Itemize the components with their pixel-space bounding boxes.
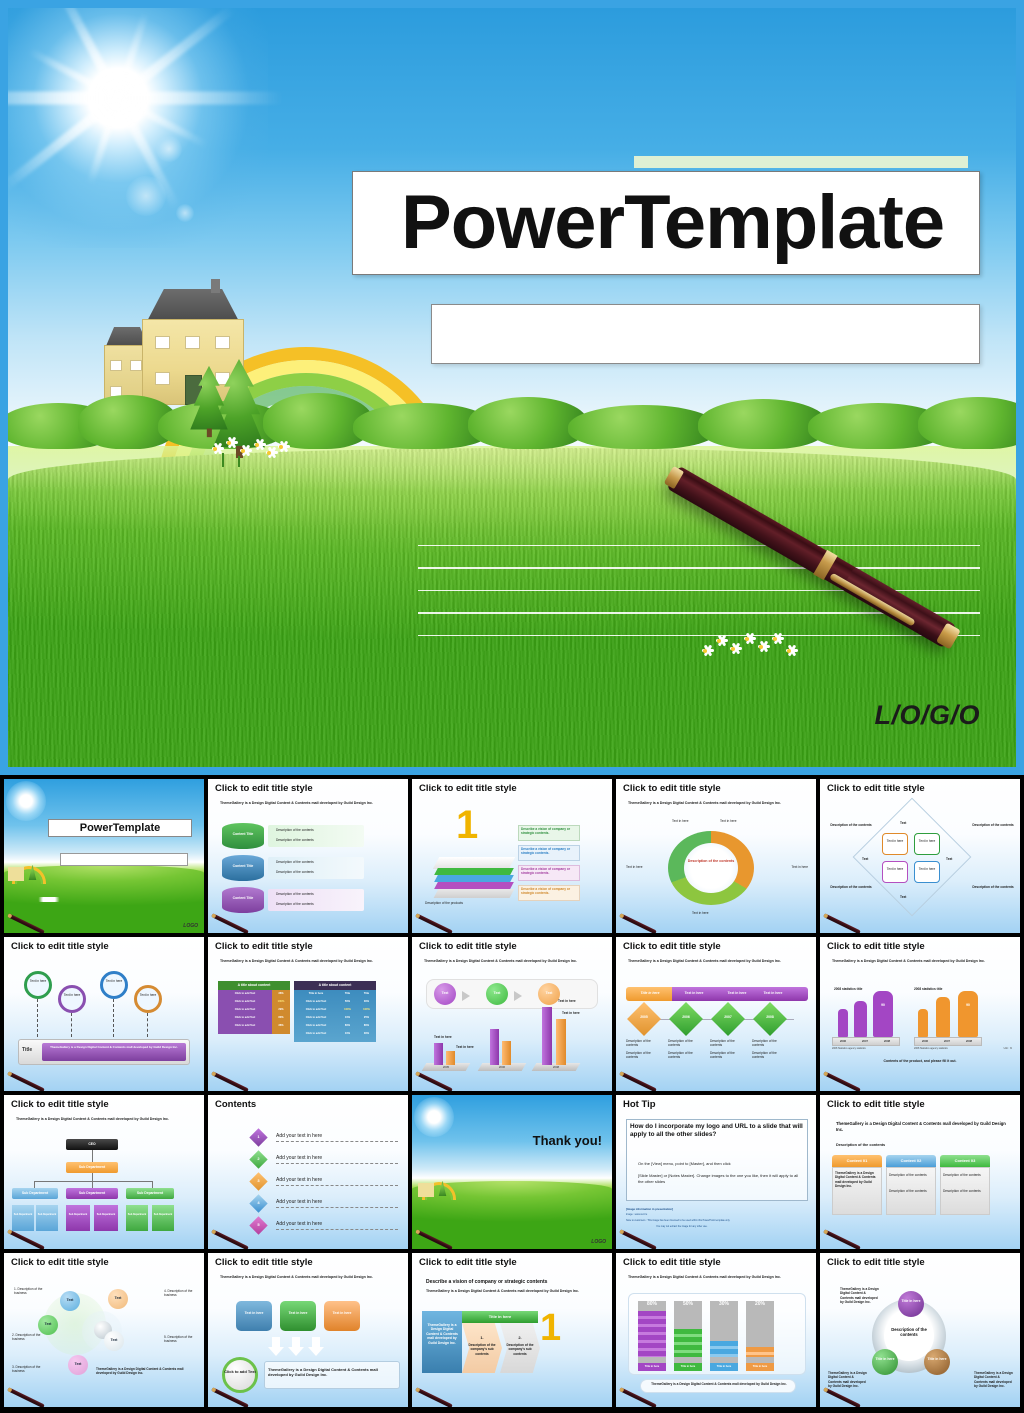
vision-text: Describe a vision of company or strategi… xyxy=(521,827,579,836)
item-text: Add your text in here xyxy=(276,1199,398,1208)
slide-title-text: Click to edit title style xyxy=(11,1258,199,1268)
slide-title-text: Click to edit title style xyxy=(827,942,1015,952)
slide-lead-text: ThemeGallery is a Design Digital Content… xyxy=(628,1275,806,1280)
desc-text: Description of the contents xyxy=(276,860,364,864)
box-label: Text in here xyxy=(882,839,908,843)
slide-subtitle-box xyxy=(60,853,188,866)
ribbon-label: Text in here xyxy=(720,991,754,995)
sun-icon xyxy=(6,781,46,821)
hero-slide-canvas: PowerTemplate L/O/G/O xyxy=(8,8,1016,767)
hot-tip-answer: [Slide Master] or [Notes Master]. Change… xyxy=(638,1173,804,1184)
slide-subtitle-box[interactable] xyxy=(431,304,980,364)
bar-category-label: Title in here xyxy=(674,1365,702,1368)
org-node-label: Sub Department xyxy=(66,1191,118,1195)
table-cell: 10% xyxy=(338,1016,357,1019)
desc-text: Description of the contents xyxy=(276,870,364,874)
fountain-pen-graphic xyxy=(210,1067,252,1089)
node-label: Text in here xyxy=(672,819,688,823)
bar-category-label: Title in here xyxy=(710,1365,738,1368)
desc-text: Description of the contents xyxy=(276,838,364,842)
table-cell: Click to add Text xyxy=(218,1024,272,1027)
slide-thumbnail-9[interactable]: Click to edit title style ThemeGallery i… xyxy=(616,937,816,1091)
slide-thumbnail-14[interactable]: Hot Tip How do I incorporate my logo and… xyxy=(616,1095,816,1249)
bullet-text: ThemeGallery is a Design Digital Content… xyxy=(836,1121,1010,1132)
slide-thumbnail-20[interactable]: Click to edit title style Description of… xyxy=(820,1253,1020,1407)
table-col-header: Title xyxy=(338,992,357,995)
slide-thumbnail-19[interactable]: Click to edit title style ThemeGallery i… xyxy=(616,1253,816,1407)
slide-title-text: Click to edit title style xyxy=(827,784,1015,794)
table-cell: Click to add Text xyxy=(294,1016,338,1019)
node-label: Title in here xyxy=(898,1299,924,1303)
slide-title-text: Click to edit title style xyxy=(623,1258,811,1268)
slide-lead-text: ThemeGallery is a Design Digital Content… xyxy=(220,959,398,964)
org-node-label: CEO xyxy=(66,1142,118,1146)
axis-tick: 2007 xyxy=(936,1039,958,1043)
bar-text: ThemeGallery is a Design Digital Content… xyxy=(44,1046,184,1050)
desc-text: Description of the contents xyxy=(276,902,364,906)
column-header: Content 03 xyxy=(940,1158,990,1163)
node-desc: 4. Description of the business xyxy=(164,1289,198,1298)
org-node-label: Sub Department xyxy=(36,1213,58,1216)
stat-value: 90 xyxy=(873,1003,893,1007)
node-desc: Description of the contents xyxy=(710,1051,746,1060)
table-cell: 100% xyxy=(357,1008,376,1011)
org-node-label: Sub Department xyxy=(126,1191,174,1195)
footnote-text: 2008 Statistics agency statistics xyxy=(914,1047,948,1050)
slide-lead-text: ThemeGallery is a Design Digital Content… xyxy=(220,801,398,806)
org-node-label: Sub Department xyxy=(94,1213,118,1216)
title-accent-bar xyxy=(634,156,968,168)
corner-label: Text xyxy=(946,857,952,861)
item-text: Add your text in here xyxy=(276,1155,398,1164)
sun-icon xyxy=(414,1097,454,1137)
donut-center-label: Description of the contents xyxy=(684,859,738,864)
content-title-label: Content Title xyxy=(222,864,264,868)
table-cell: Click to add Text xyxy=(218,1008,272,1011)
logo-placeholder: LOGO xyxy=(591,1239,606,1245)
arrow-right-icon xyxy=(462,991,470,1001)
footer-text: ThemeGallery is a Design Digital Content… xyxy=(646,1382,792,1386)
slide-thumbnail-11[interactable]: Click to edit title style ThemeGallery i… xyxy=(4,1095,204,1249)
stat-heading: 2008 statistics title xyxy=(914,987,942,991)
slide-title-text: Click to edit title style xyxy=(419,942,607,952)
ribbon-label: Text in here xyxy=(758,991,788,995)
step-text: Description of the company's sub content… xyxy=(466,1343,498,1356)
numeral-graphic: 1 xyxy=(540,1309,561,1347)
org-node-label: Sub Department xyxy=(66,1213,90,1216)
hot-tip-question: How do I incorporate my logo and URL to … xyxy=(630,1123,804,1139)
node-label: Title in here xyxy=(924,1357,950,1361)
node-label: Text in here xyxy=(692,911,708,915)
corner-label: Text xyxy=(900,895,906,899)
step-number: 2. xyxy=(506,1335,534,1340)
stat-value: 90 xyxy=(958,1003,978,1007)
slide-thumbnail-10[interactable]: Click to edit title style ThemeGallery i… xyxy=(820,937,1020,1091)
slide-title-text: Click to edit title style xyxy=(215,1258,403,1268)
numeral-graphic: 1 xyxy=(456,805,478,845)
item-text: Add your text in here xyxy=(276,1133,398,1142)
slide-title-text: PowerTemplate xyxy=(48,819,192,837)
axis-tick: 2006 xyxy=(914,1039,936,1043)
org-node-label: Sub Department xyxy=(126,1213,148,1216)
node-label: Text xyxy=(68,1362,88,1366)
column-body: Description of the contents xyxy=(943,1189,987,1193)
slide-lead-text: ThemeGallery is a Design Digital Content… xyxy=(832,959,1010,964)
node-label: Text in here xyxy=(626,865,642,869)
fountain-pen-graphic xyxy=(618,1225,660,1247)
node-label: Text xyxy=(104,1338,124,1342)
bar-category-label: Title in here xyxy=(638,1365,666,1368)
box-label: Text in here xyxy=(914,867,940,871)
node-desc: Description of the contents xyxy=(626,1051,662,1060)
fountain-pen-graphic xyxy=(618,1383,660,1405)
fountain-pen-graphic xyxy=(414,1225,456,1247)
series-label: Text in here xyxy=(562,1011,580,1015)
hot-tip-answer: On the [View] menu, point to [Master], a… xyxy=(638,1161,804,1167)
section-heading: Describe a vision of company or strategi… xyxy=(426,1279,602,1285)
logo-placeholder: LOGO xyxy=(183,923,198,929)
table-col-header: Title xyxy=(357,992,376,995)
corner-label: Text xyxy=(900,821,906,825)
footnote-text: Image : www.sxc.hu xyxy=(626,1213,647,1216)
fountain-pen-graphic xyxy=(6,1383,48,1405)
node-desc: 5. Description of the business xyxy=(164,1335,198,1344)
bar-category-label: Title in here xyxy=(746,1365,774,1368)
step-number: 1. xyxy=(468,1335,496,1340)
slide-title-text: Click to edit title style xyxy=(11,942,199,952)
slide-lead-text: ThemeGallery is a Design Digital Content… xyxy=(628,959,806,964)
axis-tick: 2008 xyxy=(534,1065,578,1069)
logo-placeholder: L/O/G/O xyxy=(874,700,980,731)
node-label: Text xyxy=(108,1296,128,1300)
column-body: Description of the contents xyxy=(889,1173,933,1177)
table-cell: Click to add Text xyxy=(218,992,272,995)
node-desc: Description of the contents xyxy=(668,1039,704,1048)
table-cell: Click to add Text xyxy=(218,1000,272,1003)
bullet-text: Description of the contents xyxy=(836,1143,885,1147)
process-label: Text xyxy=(538,991,560,995)
slide-thumbnail-8[interactable]: Click to edit title style ThemeGallery i… xyxy=(412,937,612,1091)
slide-thumbnail-1[interactable]: PowerTemplate LOGO xyxy=(4,779,204,933)
series-label: Text in here xyxy=(434,1035,452,1039)
node-label: Title in here xyxy=(872,1357,898,1361)
node-label: Text in here xyxy=(720,819,736,823)
node-desc: Description of the contents xyxy=(752,1039,788,1048)
slide-lead-text: ThemeGallery is a Design Digital Content… xyxy=(426,1289,602,1294)
series-label: Text in here xyxy=(558,999,576,1003)
year-label: 2006 xyxy=(674,1015,698,1019)
slide-thumbnail-3[interactable]: Click to edit title style 1 Description … xyxy=(412,779,612,933)
circle-label: Text in here xyxy=(58,993,86,997)
caption-text: ThemeGallery is a Design Digital Content… xyxy=(96,1367,198,1376)
item-number: 1 xyxy=(252,1134,265,1139)
fountain-pen-graphic xyxy=(822,909,864,931)
year-label: 2008 xyxy=(758,1015,782,1019)
bottom-note: Contents of the product, and please fill… xyxy=(820,1059,1020,1063)
fountain-pen-graphic xyxy=(210,1225,252,1247)
table-cell: 50% xyxy=(338,1000,357,1003)
item-number: 5 xyxy=(252,1222,265,1227)
content-title-label: Content Title xyxy=(222,832,264,836)
footnote-text: Description of the products xyxy=(424,901,464,905)
table-header: A title about content xyxy=(294,983,376,987)
slide-thumbnail-7[interactable]: Click to edit title style ThemeGallery i… xyxy=(208,937,408,1091)
footnote-text: You may not extract the image for any ot… xyxy=(656,1225,808,1228)
slide-title-text: Click to edit title style xyxy=(419,1258,607,1268)
item-text: Add your text in here xyxy=(276,1177,398,1186)
lens-flare-icon xyxy=(156,136,182,162)
footnote-text: Note to customers : This image has been … xyxy=(626,1219,808,1222)
ribbon-label: Text in here xyxy=(674,991,714,995)
slide-lead-text: ThemeGallery is a Design Digital Content… xyxy=(628,801,806,806)
vision-text: Describe a vision of company or strategi… xyxy=(521,887,579,896)
item-number: 2 xyxy=(252,1156,265,1161)
process-label: Text xyxy=(434,991,456,995)
ribbon-label: Title in here xyxy=(462,1314,538,1319)
slide-thumbnail-6[interactable]: Click to edit title style Text in here T… xyxy=(4,937,204,1091)
table-cell: 10% xyxy=(338,1032,357,1035)
table-col-header: Title in here xyxy=(294,992,338,995)
slide-title-text: Click to edit title style xyxy=(827,1100,1015,1110)
lens-flare-icon xyxy=(176,204,194,222)
stat-heading: 2008 statistics title xyxy=(834,987,862,991)
axis-tick: 2008 xyxy=(876,1039,898,1043)
bar-value-label: 80% xyxy=(638,1301,666,1307)
box-label: Text in here xyxy=(914,839,940,843)
item-number: 3 xyxy=(252,1178,265,1183)
circle-label: Text in here xyxy=(100,979,128,983)
table-cell: 60% xyxy=(338,1024,357,1027)
slide-lead-text: ThemeGallery is a Design Digital Content… xyxy=(16,1117,194,1122)
fountain-pen-graphic xyxy=(822,1383,864,1405)
slide-thumbnail-grid: PowerTemplate LOGO Click to edit title s… xyxy=(0,775,1024,1413)
table-cell: 100% xyxy=(338,1008,357,1011)
box-label: Text in here xyxy=(324,1311,360,1315)
box-label: Text in here xyxy=(882,867,908,871)
slide-lead-text: ThemeGallery is a Design Digital Content… xyxy=(424,959,602,964)
arrow-down-icon xyxy=(288,1347,304,1356)
slide-thumbnail-2[interactable]: Click to edit title style ThemeGallery i… xyxy=(208,779,408,933)
desc-text: Description of the contents xyxy=(276,828,364,832)
corner-label: Text xyxy=(862,857,868,861)
box-label: Text in here xyxy=(236,1311,272,1315)
slide-thumbnail-16[interactable]: Click to edit title style Text Text Text… xyxy=(4,1253,204,1407)
table-cell: 30% xyxy=(357,1000,376,1003)
item-number: 4 xyxy=(252,1200,265,1205)
fountain-pen-graphic xyxy=(414,1067,456,1089)
table-cell: Click to add Text xyxy=(294,1024,338,1027)
table-cell: 30% xyxy=(357,1032,376,1035)
slide-title-text: Click to edit title style xyxy=(827,1258,1015,1268)
content-title-label: Content Title xyxy=(222,896,264,900)
series-label: Text in here xyxy=(456,1045,474,1049)
fountain-pen-graphic xyxy=(414,909,456,931)
slide-title-text: Click to edit title style xyxy=(623,784,811,794)
slide-thumbnail-18[interactable]: Click to edit title style Describe a vis… xyxy=(412,1253,612,1407)
node-desc: Description of the contents xyxy=(752,1051,788,1060)
table-cell: 80% xyxy=(357,1024,376,1027)
slide-title-text: PowerTemplate xyxy=(353,185,944,261)
hero-slide: PowerTemplate L/O/G/O xyxy=(0,0,1024,775)
axis-tick: 2006 xyxy=(832,1039,854,1043)
column-header: Content 01 xyxy=(832,1158,882,1163)
node-desc: 2. Description of the business xyxy=(12,1333,46,1342)
side-label: Description of the contents xyxy=(830,885,872,889)
table-cell: Click to add Text xyxy=(294,1032,338,1035)
circle-label: Text in here xyxy=(24,979,52,983)
table-cell: Click to add Text xyxy=(294,1000,338,1003)
table-cell: Click to add Text xyxy=(218,1016,272,1019)
slide-thumbnail-17[interactable]: Click to edit title style ThemeGallery i… xyxy=(208,1253,408,1407)
year-label: 2007 xyxy=(716,1015,740,1019)
side-label: Description of the contents xyxy=(972,823,1014,827)
column-body: ThemeGallery is a Design Digital Content… xyxy=(835,1171,879,1188)
slide-title-text: Click to edit title style xyxy=(11,1100,199,1110)
fountain-pen-graphic xyxy=(618,909,660,931)
bar-value-label: 50% xyxy=(674,1301,702,1307)
fountain-pen-graphic xyxy=(210,1383,252,1405)
slide-thumbnail-12[interactable]: Contents 1 Add your text in here 2 Add y… xyxy=(208,1095,408,1249)
slide-title-box[interactable]: PowerTemplate xyxy=(352,171,980,275)
left-block-text: ThemeGallery is a Design Digital Content… xyxy=(424,1323,460,1345)
year-label: 2005 xyxy=(632,1015,656,1019)
bush-row xyxy=(8,379,1016,449)
bar-value-label: 20% xyxy=(746,1301,774,1307)
axis-tick: 2006 xyxy=(480,1065,524,1069)
table-cell: 29% xyxy=(272,1008,290,1011)
ribbon-label: Title in here xyxy=(626,991,674,995)
slide-title-text: Contents xyxy=(215,1100,403,1110)
fountain-pen-graphic xyxy=(6,1225,48,1247)
node-desc: Description of the contents xyxy=(626,1039,662,1048)
side-label: Description of the contents xyxy=(830,823,872,827)
arrow-down-icon xyxy=(268,1347,284,1356)
table-cell: 100% xyxy=(272,1000,290,1003)
table-cell: 80% xyxy=(272,1016,290,1019)
column-body: Description of the contents xyxy=(889,1189,933,1193)
node-desc: 1. Description of the business xyxy=(14,1287,48,1296)
table-cell: 25% xyxy=(357,1016,376,1019)
org-node-label: Sub Department xyxy=(12,1191,58,1195)
table-cell: Click to add Text xyxy=(294,1008,338,1011)
process-label: Text xyxy=(486,991,508,995)
slide-title-text: Click to edit title style xyxy=(623,942,811,952)
center-label: Description of the contents xyxy=(884,1327,934,1338)
vision-text: Describe a vision of company or strategi… xyxy=(521,867,579,876)
org-node-label: Sub Department xyxy=(152,1213,174,1216)
circle-label: Click to add Text xyxy=(224,1369,256,1374)
fountain-pen-graphic xyxy=(663,456,1003,671)
bar-value-label: 30% xyxy=(710,1301,738,1307)
slide-title-text: Click to edit title style xyxy=(419,784,607,794)
org-node-label: Sub Department xyxy=(66,1165,118,1169)
table-header: A title about content xyxy=(218,983,290,987)
table-cell: 36% xyxy=(272,1024,290,1027)
bar-label: Title xyxy=(22,1047,32,1053)
node-label: Text in here xyxy=(792,865,808,869)
arrow-down-icon xyxy=(308,1347,324,1356)
fountain-pen-graphic xyxy=(618,1067,660,1089)
tree-graphic xyxy=(187,366,232,432)
column-body: Description of the contents xyxy=(943,1173,987,1177)
fountain-pen-graphic xyxy=(6,909,48,931)
slide-lead-text: ThemeGallery is a Design Digital Content… xyxy=(220,1275,398,1280)
side-label: Description of the contents xyxy=(972,885,1014,889)
column-header: Content 02 xyxy=(886,1158,936,1163)
result-text: ThemeGallery is a Design Digital Content… xyxy=(268,1367,396,1378)
slide-thumbnail-15[interactable]: Click to edit title style ThemeGallery i… xyxy=(820,1095,1020,1249)
unit-label: Unit : % xyxy=(1004,1047,1012,1050)
note-text: ThemeGallery is a Design Digital Content… xyxy=(974,1371,1014,1388)
table-cell: 36% xyxy=(272,992,290,995)
axis-tick: 2008 xyxy=(958,1039,980,1043)
item-text: Add your text in here xyxy=(276,1221,398,1230)
slide-title-text: Thank you! xyxy=(450,1133,602,1148)
vision-text: Describe a vision of company or strategi… xyxy=(521,847,579,856)
slide-title-text: Click to edit title style xyxy=(215,784,403,794)
lens-flare-icon xyxy=(126,176,166,216)
axis-tick: 2007 xyxy=(854,1039,876,1043)
circle-label: Text in here xyxy=(134,993,162,997)
org-node-label: Sub Department xyxy=(12,1213,34,1216)
slide-thumbnail-5[interactable]: Click to edit title style Text in here T… xyxy=(820,779,1020,933)
slide-title-text: Click to edit title style xyxy=(215,942,403,952)
slide-thumbnail-13[interactable]: Thank you! LOGO xyxy=(412,1095,612,1249)
footnote-title: [Image information in presentation] xyxy=(626,1207,673,1211)
note-text: ThemeGallery is a Design Digital Content… xyxy=(840,1287,880,1304)
fountain-pen-graphic xyxy=(822,1067,864,1089)
node-label: Text xyxy=(60,1298,80,1302)
fountain-pen-graphic xyxy=(414,1383,456,1405)
node-desc: Description of the contents xyxy=(668,1051,704,1060)
desc-text: Description of the contents xyxy=(276,892,364,896)
box-label: Text in here xyxy=(280,1311,316,1315)
fountain-pen-graphic xyxy=(822,1225,864,1247)
slide-thumbnail-4[interactable]: Click to edit title style ThemeGallery i… xyxy=(616,779,816,933)
fountain-pen-graphic xyxy=(210,909,252,931)
fountain-pen-graphic xyxy=(6,1067,48,1089)
node-label: Text xyxy=(38,1322,58,1326)
slide-title-text: Hot Tip xyxy=(623,1100,811,1110)
footnote-text: 2008 Statistics agency statistics xyxy=(832,1047,866,1050)
node-desc: Description of the contents xyxy=(710,1039,746,1048)
node-desc: 3. Description of the business xyxy=(12,1365,46,1374)
step-text: Description of the company's sub content… xyxy=(504,1343,536,1356)
arrow-right-icon xyxy=(514,991,522,1001)
